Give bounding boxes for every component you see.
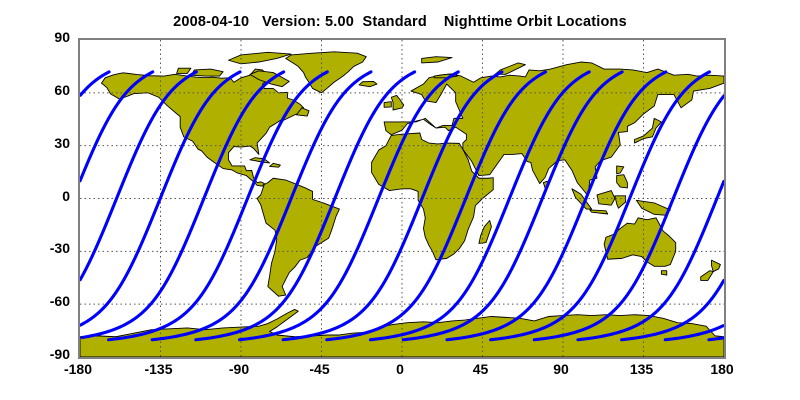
orbit-track-5 (80, 72, 153, 181)
orbit-track-7 (80, 72, 240, 325)
orbit-track-15 (370, 72, 589, 340)
x-tick-label-135: 135 (612, 361, 672, 377)
orbit-track-8-seg2 (709, 338, 723, 340)
x-tick-label-0: 0 (370, 361, 430, 377)
orbit-map-figure: 2008-04-10 Version: 5.00 Standard Nightt… (0, 0, 800, 400)
map-plot-area (78, 38, 726, 359)
x-tick-label-180: 180 (692, 361, 752, 377)
x-tick-label-90: 90 (531, 361, 591, 377)
orbit-track-13 (283, 72, 502, 340)
x-tick-label-neg180: -180 (48, 361, 108, 377)
x-tick-label-45: 45 (451, 361, 511, 377)
y-tick-label-90: 90 (2, 29, 70, 45)
orbit-track-10 (152, 72, 371, 340)
orbit-track-4-seg2 (534, 96, 724, 340)
y-tick-label-neg30: -30 (2, 240, 70, 256)
orbit-ground-tracks (80, 40, 724, 357)
orbit-track-9 (109, 72, 328, 340)
y-tick-label-0: 0 (2, 188, 70, 204)
orbit-track-1 (403, 72, 622, 340)
x-tick-label-neg135: -135 (129, 361, 189, 377)
orbit-track-12 (240, 72, 459, 340)
y-tick-label-neg60: -60 (2, 293, 70, 309)
y-tick-label-30: 30 (2, 135, 70, 151)
y-tick-label-60: 60 (2, 82, 70, 98)
orbit-track-14 (327, 72, 546, 340)
orbit-track-4 (81, 72, 110, 95)
orbit-track-3 (491, 72, 710, 340)
orbit-track-5-seg2 (578, 181, 724, 339)
orbit-track-11 (196, 72, 415, 340)
orbit-track-2 (447, 72, 666, 340)
y-tick-label-neg90: -90 (2, 346, 70, 362)
page-title: 2008-04-10 Version: 5.00 Standard Nightt… (0, 14, 800, 30)
x-tick-label-neg45: -45 (290, 361, 350, 377)
x-tick-label-neg90: -90 (209, 361, 269, 377)
